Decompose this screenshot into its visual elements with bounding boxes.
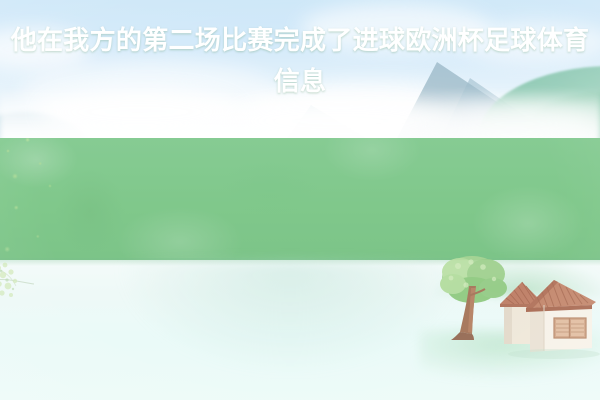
headline-line-2: 信息	[274, 61, 327, 102]
house-icon	[492, 268, 600, 360]
headline-text: 他在我方的第二场比赛完成了进球欧洲杯足球体育 信息	[0, 0, 600, 122]
foliage-speckle-icon	[0, 190, 90, 260]
headline-line-1: 他在我方的第二场比赛完成了进球欧洲杯足球体育	[11, 20, 590, 61]
band-texture	[0, 138, 600, 260]
green-caption-band	[0, 138, 600, 260]
branch-icon	[0, 262, 54, 318]
banner-image: 他在我方的第二场比赛完成了进球欧洲杯足球体育 信息	[0, 0, 600, 400]
ground-haze	[120, 262, 460, 372]
